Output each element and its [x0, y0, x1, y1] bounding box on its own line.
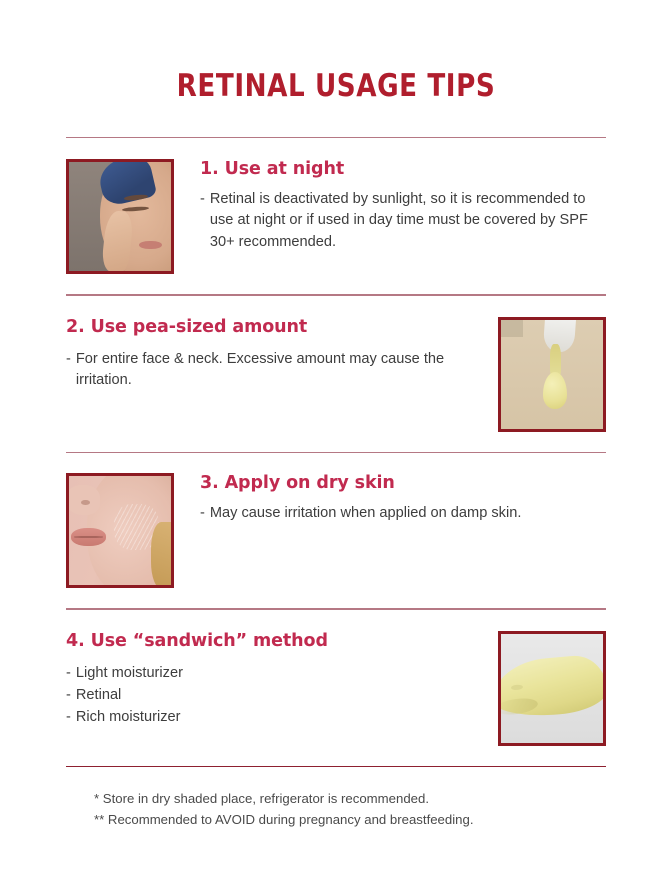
divider-1 [66, 294, 606, 296]
tip-1-thumbnail-cell [66, 159, 174, 274]
tip-4-body-line: - Retinal [66, 685, 470, 706]
footnotes-block: * Store in dry shaded place, refrigerato… [66, 767, 606, 831]
tip-section-4: 4. Use “sandwich” method - Light moistur… [66, 610, 606, 766]
yellow-cream-swatch-image [501, 634, 603, 743]
tip-1-heading: 1. Use at night [200, 159, 606, 180]
bullet-dash-icon: - [66, 707, 71, 728]
tip-4-text-cell: 4. Use “sandwich” method - Light moistur… [66, 631, 476, 729]
dropper-with-serum-drop-image [501, 320, 603, 429]
close-up-of-dry-cheek-skin-image [69, 476, 171, 585]
tip-3-body-line: - May cause irritation when applied on d… [200, 503, 606, 524]
tip-3-image-frame [66, 473, 174, 588]
tip-4-image-frame [498, 631, 606, 746]
footnote-pregnancy-warning: ** Recommended to AVOID during pregnancy… [94, 810, 606, 831]
tip-section-1: 1. Use at night - Retinal is deactivated… [66, 138, 606, 294]
tip-2-heading: 2. Use pea-sized amount [66, 317, 470, 338]
tip-2-image-frame [498, 317, 606, 432]
tip-1-body-text: Retinal is deactivated by sunlight, so i… [210, 189, 606, 253]
tip-3-body-text: May cause irritation when applied on dam… [210, 503, 606, 524]
tip-3-thumbnail-cell [66, 473, 174, 588]
bullet-dash-icon: - [66, 685, 71, 706]
tip-4-heading: 4. Use “sandwich” method [66, 631, 470, 652]
page-title: RETINAL USAGE TIPS [82, 70, 590, 103]
tip-4-body-text: Rich moisturizer [76, 707, 470, 728]
tip-1-body-line: - Retinal is deactivated by sunlight, so… [200, 189, 606, 253]
woman-with-headband-touching-face-image [69, 162, 171, 271]
tip-2-body-line: - For entire face & neck. Excessive amou… [66, 349, 470, 392]
tip-3-text-cell: 3. Apply on dry skin - May cause irritat… [196, 473, 606, 524]
divider-2 [66, 452, 606, 454]
bullet-dash-icon: - [200, 503, 205, 524]
tip-4-thumbnail-cell [498, 631, 606, 746]
divider-3 [66, 608, 606, 610]
tip-4-body-line: - Light moisturizer [66, 663, 470, 684]
tip-3-heading: 3. Apply on dry skin [200, 473, 606, 494]
tip-2-text-cell: 2. Use pea-sized amount - For entire fac… [66, 317, 476, 392]
tip-1-text-cell: 1. Use at night - Retinal is deactivated… [196, 159, 606, 253]
tip-2-body-text: For entire face & neck. Excessive amount… [76, 349, 470, 392]
divider-top [66, 137, 606, 139]
infographic-page: RETINAL USAGE TIPS 1. Use at night - [0, 0, 672, 896]
tip-2-thumbnail-cell [498, 317, 606, 432]
tip-section-3: 3. Apply on dry skin - May cause irritat… [66, 453, 606, 608]
bullet-dash-icon: - [66, 663, 71, 684]
tip-4-body-line: - Rich moisturizer [66, 707, 470, 728]
bullet-dash-icon: - [66, 349, 71, 370]
bullet-dash-icon: - [200, 189, 205, 210]
tip-4-body-text: Light moisturizer [76, 663, 470, 684]
footnote-storage: * Store in dry shaded place, refrigerato… [94, 789, 606, 810]
tip-1-image-frame [66, 159, 174, 274]
tip-section-2: 2. Use pea-sized amount - For entire fac… [66, 296, 606, 452]
tip-4-body-text: Retinal [76, 685, 470, 706]
title-block: RETINAL USAGE TIPS [66, 0, 606, 103]
